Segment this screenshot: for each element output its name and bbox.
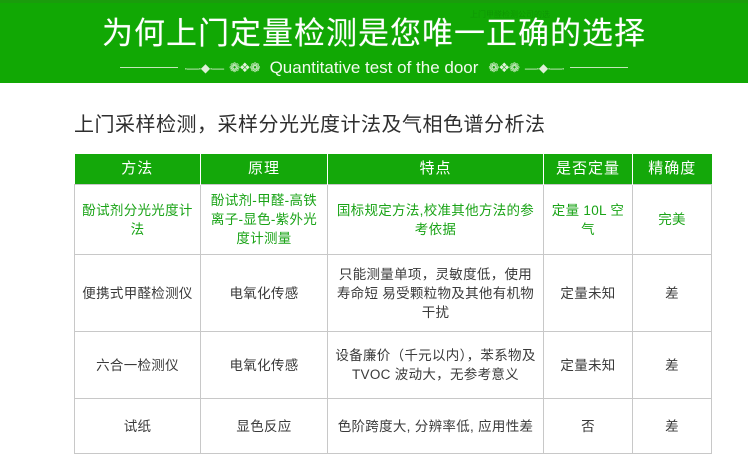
flourish-right-icon: ❁❖❁ [488,61,518,74]
table-row: 便携式甲醛检测仪 电氧化传感 只能测量单项，灵敏度低，使用寿命短 易受颗粒物及其… [75,255,712,332]
column-header-method: 方法 [75,154,201,185]
column-header-principle: 原理 [201,154,328,185]
cell-method: 便携式甲醛检测仪 [75,255,201,332]
page-content: 上门采样检测，采样分光光度计法及气相色谱分析法 方法 原理 特点 是否定量 精确… [0,112,748,454]
cell-method: 试纸 [75,399,201,454]
page-banner: 上门甲醛检测公司的选 为何上门定量检测是您唯一正确的选择 ·—·◆·— ❁❖❁ … [0,0,748,83]
comparison-table: 方法 原理 特点 是否定量 精确度 酚试剂分光光度计法 酚试剂-甲醛-高铁离子-… [74,154,712,454]
cell-quantitative: 定量未知 [544,255,633,332]
cell-features: 色阶跨度大, 分辨率低, 应用性差 [328,399,544,454]
divider-line-left [120,67,178,68]
cell-method: 酚试剂分光光度计法 [75,185,201,255]
divider-line-right [570,67,628,68]
cell-quantitative: 定量未知 [544,332,633,399]
banner-subtitle-row: ·—·◆·— ❁❖❁ Quantitative test of the door… [0,58,748,77]
column-header-quantitative: 是否定量 [544,154,633,185]
table-row: 六合一检测仪 电氧化传感 设备廉价（千元以内），苯系物及 TVOC 波动大，无参… [75,332,712,399]
banner-subtitle-en: Quantitative test of the door [266,58,483,77]
table-row: 酚试剂分光光度计法 酚试剂-甲醛-高铁离子-显色-紫外光度计测量 国标规定方法,… [75,185,712,255]
flourish-left-icon: ❁❖❁ [229,61,259,74]
column-header-accuracy: 精确度 [633,154,712,185]
cell-accuracy: 差 [633,255,712,332]
cell-features: 只能测量单项，灵敏度低，使用寿命短 易受颗粒物及其他有机物干扰 [328,255,544,332]
cell-principle: 电氧化传感 [201,255,328,332]
cell-features: 设备廉价（千元以内），苯系物及 TVOC 波动大，无参考意义 [328,332,544,399]
cell-principle: 电氧化传感 [201,332,328,399]
cell-features: 国标规定方法,校准其他方法的参考依据 [328,185,544,255]
cell-quantitative: 定量 10L 空气 [544,185,633,255]
dot-ornament-left-icon: ·—·◆·— [184,61,223,75]
banner-watermark: 上门甲醛检测公司的选 [470,10,645,24]
section-subtitle: 上门采样检测，采样分光光度计法及气相色谱分析法 [74,112,748,138]
dot-ornament-right-icon: —·◆·—· [525,61,564,75]
cell-accuracy: 差 [633,332,712,399]
table-row: 试纸 显色反应 色阶跨度大, 分辨率低, 应用性差 否 差 [75,399,712,454]
cell-principle: 显色反应 [201,399,328,454]
table-header-row: 方法 原理 特点 是否定量 精确度 [75,154,712,185]
cell-quantitative: 否 [544,399,633,454]
cell-accuracy: 差 [633,399,712,454]
column-header-features: 特点 [328,154,544,185]
cell-accuracy: 完美 [633,185,712,255]
comparison-table-wrapper: 方法 原理 特点 是否定量 精确度 酚试剂分光光度计法 酚试剂-甲醛-高铁离子-… [74,154,711,454]
cell-method: 六合一检测仪 [75,332,201,399]
cell-principle: 酚试剂-甲醛-高铁离子-显色-紫外光度计测量 [201,185,328,255]
